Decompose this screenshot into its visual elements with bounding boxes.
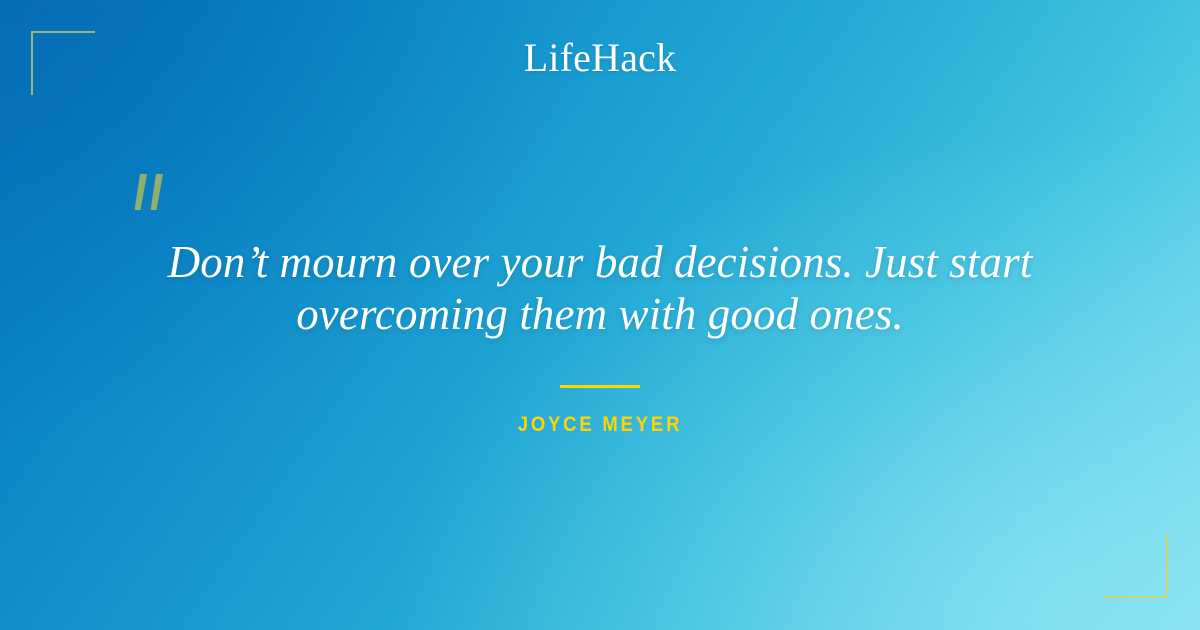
- quote-card: LifeHack Don’t mourn over your bad decis…: [0, 0, 1200, 630]
- author-divider: [560, 385, 640, 388]
- quote-text-block: Don’t mourn over your bad decisions. Jus…: [95, 236, 1105, 340]
- quote-text: Don’t mourn over your bad decisions. Jus…: [95, 236, 1105, 340]
- author-name: JOYCE MEYER: [72, 414, 1128, 435]
- lifehack-logo: LifeHack: [0, 38, 1200, 78]
- quotation-mark-icon: [128, 172, 188, 220]
- corner-bracket-bottom-right-icon: [1104, 534, 1168, 598]
